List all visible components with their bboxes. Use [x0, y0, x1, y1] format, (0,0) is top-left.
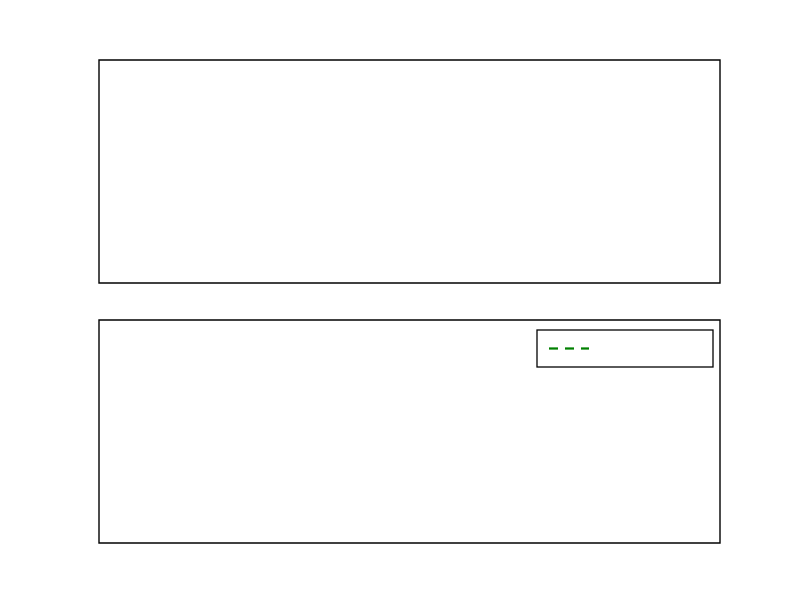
- top-plot-background: [99, 60, 720, 283]
- legend-frame: [537, 330, 713, 367]
- top-axes: [99, 60, 720, 283]
- matplotlib-figure: [0, 0, 800, 600]
- legend[interactable]: [537, 330, 713, 367]
- figure-canvas: [0, 0, 800, 600]
